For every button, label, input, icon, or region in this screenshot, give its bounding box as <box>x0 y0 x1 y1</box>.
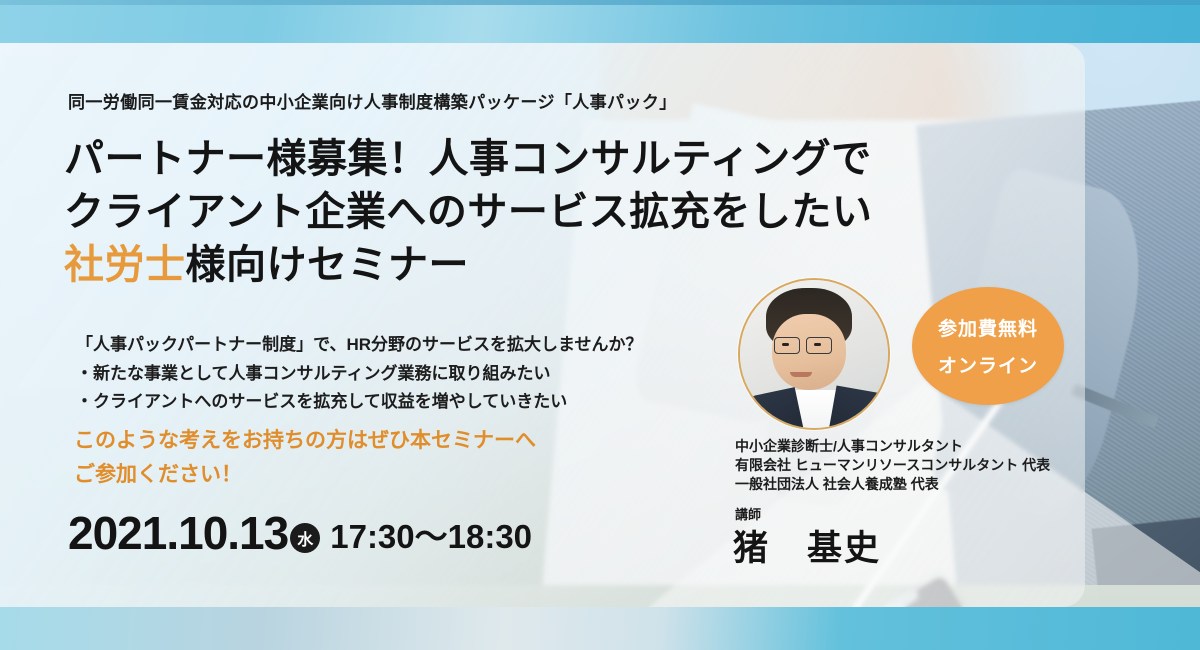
avatar-mouth <box>790 372 812 377</box>
credential-line: 中小企業診断士/人事コンサルタント <box>735 437 1050 456</box>
headline-line-1: パートナー様募集！人事コンサルティングで <box>64 133 872 186</box>
list-item: ・新たな事業として人事コンサルティング業務に取り組みたい <box>76 360 567 388</box>
credential-line: 有限会社 ヒューマンリソースコンサルタント 代表 <box>735 456 1050 475</box>
headline-line-2: クライアント企業へのサービス拡充をしたい <box>64 186 872 239</box>
credential-line: 一般社団法人 社会人養成塾 代表 <box>735 475 1050 494</box>
bullet-list: ・新たな事業として人事コンサルティング業務に取り組みたい ・クライアントへのサー… <box>76 360 567 416</box>
avatar <box>738 278 890 430</box>
eyebrow-text: 同一労働同一賃金対応の中小企業向け人事制度構築パッケージ「人事パック」 <box>68 88 677 113</box>
page-title: パートナー様募集！人事コンサルティングで クライアント企業へのサービス拡充をした… <box>64 133 872 292</box>
speaker-credentials: 中小企業診断士/人事コンサルタント 有限会社 ヒューマンリソースコンサルタント … <box>735 437 1050 494</box>
cta-text: このような考えをお持ちの方はぜひ本セミナーへ ご参加ください！ <box>74 424 536 492</box>
speaker-name: 猪 基史 <box>733 520 881 571</box>
banner-content: 同一労働同一賃金対応の中小企業向け人事制度構築パッケージ「人事パック」 パートナ… <box>0 0 1200 650</box>
headline-highlight: 社労士 <box>64 243 186 287</box>
avatar-eye-right <box>814 343 821 346</box>
lead-text: 「人事パックパートナー制度」で、HR分野のサービスを拡大しませんか？ <box>76 330 643 355</box>
event-time: 17:30〜18:30 <box>330 514 532 560</box>
seminar-banner: 同一労働同一賃金対応の中小企業向け人事制度構築パッケージ「人事パック」 パートナ… <box>0 0 1200 650</box>
cta-line-2: ご参加ください！ <box>74 458 536 492</box>
day-of-week-badge: 水 <box>290 523 320 553</box>
schedule: 2021.10.13 水 17:30〜18:30 <box>68 506 532 560</box>
avatar-eye-left <box>782 343 789 346</box>
list-item: ・クライアントへのサービスを拡充して収益を増やしていきたい <box>76 388 567 416</box>
badge-line-2: オンライン <box>938 351 1038 378</box>
status-badge: 参加費無料 オンライン <box>912 287 1064 405</box>
event-date: 2021.10.13 <box>68 506 288 560</box>
badge-line-1: 参加費無料 <box>938 314 1038 341</box>
cta-line-1: このような考えをお持ちの方はぜひ本セミナーへ <box>74 424 536 458</box>
headline-line-3-rest: 様向けセミナー <box>186 243 470 287</box>
